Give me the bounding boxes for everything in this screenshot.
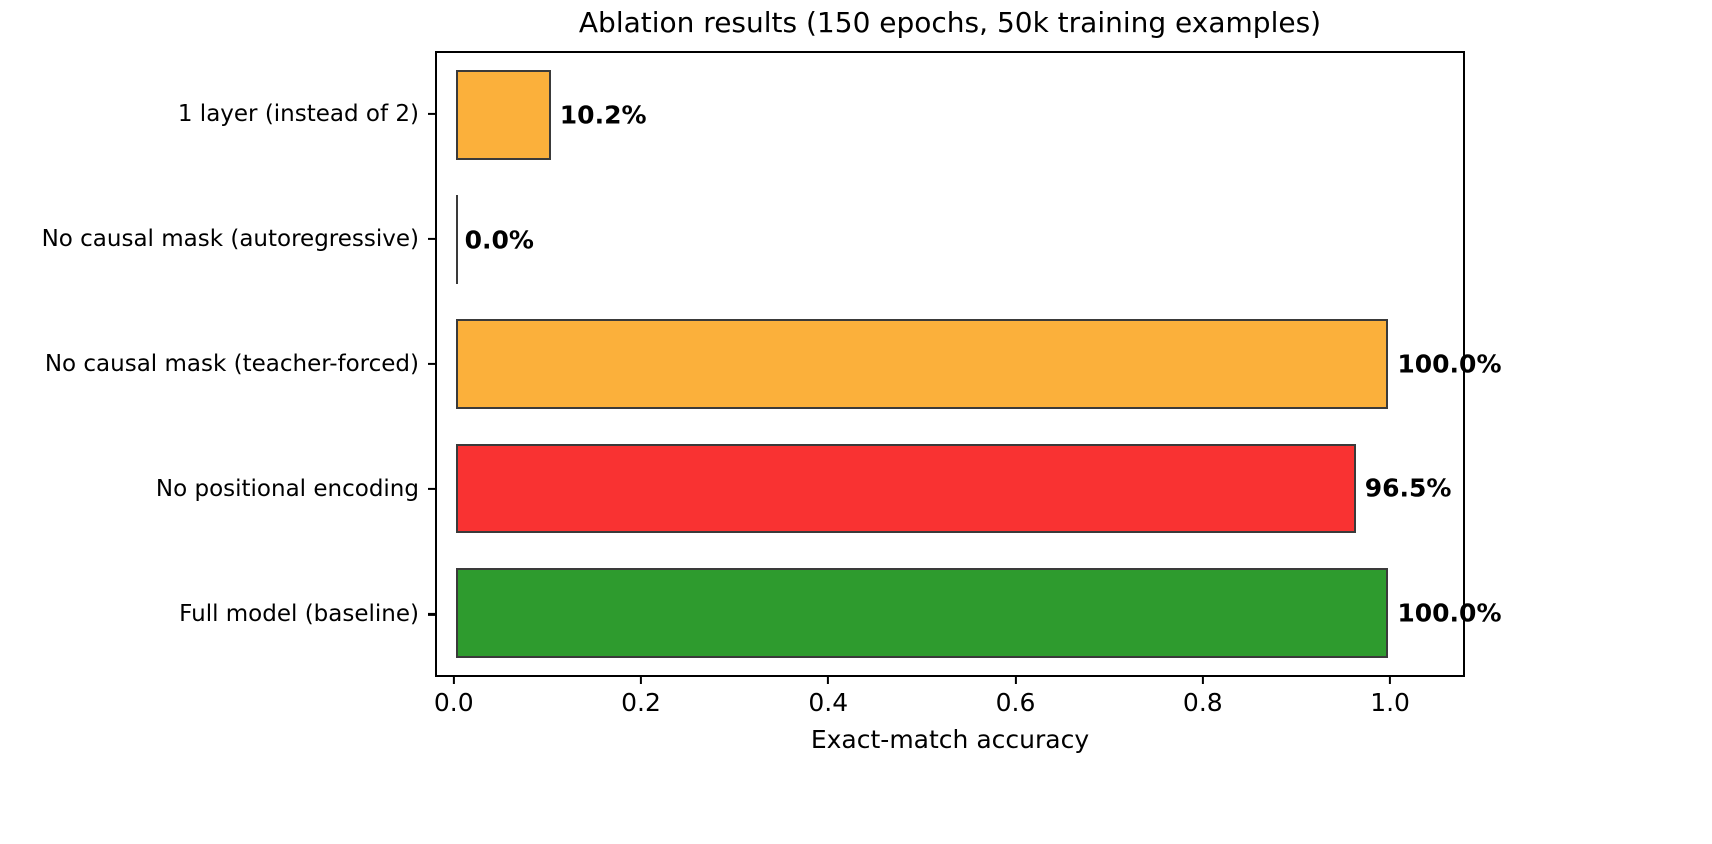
y-tick-mark bbox=[428, 113, 435, 115]
bar bbox=[456, 70, 551, 160]
y-axis: 1 layer (instead of 2)No causal mask (au… bbox=[0, 51, 435, 677]
bar bbox=[456, 568, 1389, 658]
bar-row: 100.0% bbox=[437, 302, 1463, 426]
bar-row: 0.0% bbox=[437, 177, 1463, 301]
bar bbox=[456, 319, 1389, 409]
x-tick-label: 1.0 bbox=[1370, 688, 1410, 717]
x-tick-mark bbox=[453, 677, 455, 684]
y-tick-label: 1 layer (instead of 2) bbox=[178, 101, 419, 127]
y-tick: No causal mask (autoregressive) bbox=[0, 176, 435, 301]
x-tick-label: 0.0 bbox=[434, 688, 474, 717]
y-tick: No positional encoding bbox=[0, 427, 435, 552]
y-tick-mark bbox=[428, 613, 435, 615]
x-tick-mark bbox=[1389, 677, 1391, 684]
bar-row: 100.0% bbox=[437, 551, 1463, 675]
y-tick-mark bbox=[428, 238, 435, 240]
chart-figure: Ablation results (150 epochs, 50k traini… bbox=[0, 0, 1712, 844]
bar-value-label: 0.0% bbox=[456, 225, 534, 254]
x-tick-label: 0.8 bbox=[1183, 688, 1223, 717]
y-tick-label: Full model (baseline) bbox=[179, 601, 419, 627]
bars-layer: 10.2%0.0%100.0%96.5%100.0% bbox=[437, 53, 1463, 675]
x-tick-mark bbox=[827, 677, 829, 684]
plot-area: 10.2%0.0%100.0%96.5%100.0% bbox=[435, 51, 1465, 677]
y-tick-label: No causal mask (teacher-forced) bbox=[45, 351, 419, 377]
bar bbox=[456, 444, 1356, 534]
x-tick-label: 0.6 bbox=[996, 688, 1036, 717]
y-tick-label: No positional encoding bbox=[156, 476, 419, 502]
y-tick-label: No causal mask (autoregressive) bbox=[42, 226, 419, 252]
y-tick-mark bbox=[428, 363, 435, 365]
bar-row: 10.2% bbox=[437, 53, 1463, 177]
x-tick-mark bbox=[1014, 677, 1016, 684]
x-tick-mark bbox=[640, 677, 642, 684]
bar-value-label: 10.2% bbox=[551, 101, 647, 130]
y-tick: 1 layer (instead of 2) bbox=[0, 51, 435, 176]
x-tick-mark bbox=[1202, 677, 1204, 684]
x-tick-label: 0.4 bbox=[808, 688, 848, 717]
x-tick-label: 0.2 bbox=[621, 688, 661, 717]
y-tick: Full model (baseline) bbox=[0, 552, 435, 677]
y-tick: No causal mask (teacher-forced) bbox=[0, 301, 435, 426]
y-tick-mark bbox=[428, 488, 435, 490]
bar-value-label: 100.0% bbox=[1388, 349, 1501, 378]
x-axis-label: Exact-match accuracy bbox=[435, 725, 1465, 754]
bar-row: 96.5% bbox=[437, 426, 1463, 550]
bar-value-label: 96.5% bbox=[1356, 474, 1452, 503]
chart-title: Ablation results (150 epochs, 50k traini… bbox=[435, 6, 1465, 39]
bar-value-label: 100.0% bbox=[1388, 598, 1501, 627]
